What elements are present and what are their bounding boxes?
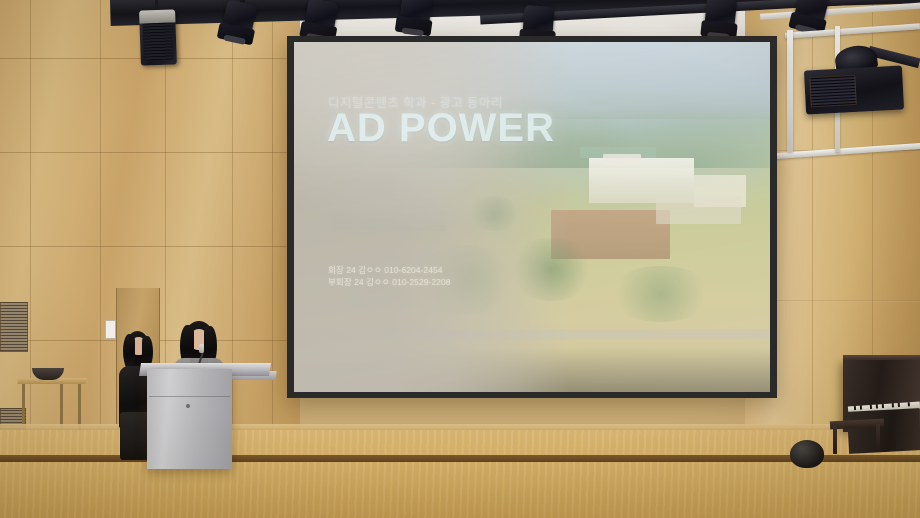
podium-panel-seam	[149, 396, 230, 397]
wall-vent-grille	[0, 302, 28, 352]
wall-switch-plate[interactable]	[105, 320, 116, 339]
ceiling-speaker	[139, 9, 177, 65]
microphone	[199, 344, 204, 353]
podium	[147, 369, 232, 469]
ceiling-projector	[804, 65, 904, 114]
contact-line-vice-president: 부회장 24 김ㅇㅇ 010-2529-2208	[328, 276, 450, 288]
bag-on-floor	[790, 440, 824, 468]
projection-screen[interactable]: 디지털콘텐츠 학과 - 광고 동아리 AD POWER 회장 24 김ㅇㅇ 01…	[294, 42, 770, 392]
slide-title: AD POWER	[327, 106, 555, 151]
piano-lower-panel	[847, 408, 920, 454]
photo-canvas: 디지털콘텐츠 학과 - 광고 동아리 AD POWER 회장 24 김ㅇㅇ 01…	[0, 0, 920, 518]
slide-contact-info: 회장 24 김ㅇㅇ 010-6204-2454 부회장 24 김ㅇㅇ 010-2…	[328, 264, 450, 289]
stage-light	[392, 0, 438, 41]
podium-control-knob[interactable]	[186, 404, 190, 408]
contact-line-president: 회장 24 김ㅇㅇ 010-6204-2454	[328, 264, 450, 276]
